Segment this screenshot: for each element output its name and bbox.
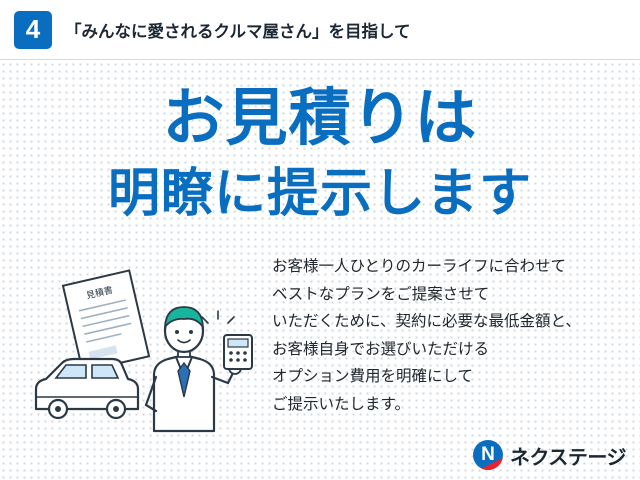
calculator-icon [224, 335, 252, 369]
sales-staff-illustration: 見積書 [28, 259, 268, 434]
estimate-document-icon: 見積書 [63, 270, 149, 371]
car-icon [36, 359, 138, 418]
description-paragraph: お客様一人ひとりのカーライフに合わせて ベストなプランをご提案させて いただくた… [272, 253, 628, 418]
sparkle-icon [202, 311, 234, 323]
header: 4 「みんなに愛されるクルマ屋さん」を目指して [0, 0, 640, 60]
logo-text: ネクステージ [510, 441, 626, 470]
headline: お見積りは 明瞭に提示します [0, 87, 640, 221]
paragraph-line: お客様自身でお選びいただける [272, 336, 628, 364]
logo-mark-icon: N [473, 440, 503, 470]
paragraph-line: オプション費用を明確にして [272, 363, 628, 391]
page-title: 「みんなに愛されるクルマ屋さん」を目指して [65, 18, 411, 42]
promo-banner: 4 「みんなに愛されるクルマ屋さん」を目指して お見積りは 明瞭に提示します お… [0, 0, 640, 480]
headline-line-2: 明瞭に提示します [0, 168, 640, 221]
brand-logo: N ネクステージ [473, 440, 626, 470]
paragraph-line: いただくために、契約に必要な最低金額と、 [272, 308, 628, 336]
paragraph-line: ベストなプランをご提案させて [272, 281, 628, 309]
paragraph-line: お客様一人ひとりのカーライフに合わせて [272, 253, 628, 281]
headline-line-1: お見積りは [0, 87, 640, 150]
section-number-badge: 4 [14, 11, 52, 49]
content-area: お見積りは 明瞭に提示します お客様一人ひとりのカーライフに合わせて ベストなプ… [0, 61, 640, 480]
logo-initial: N [481, 444, 495, 466]
paragraph-line: ご提示いたします。 [272, 391, 628, 419]
